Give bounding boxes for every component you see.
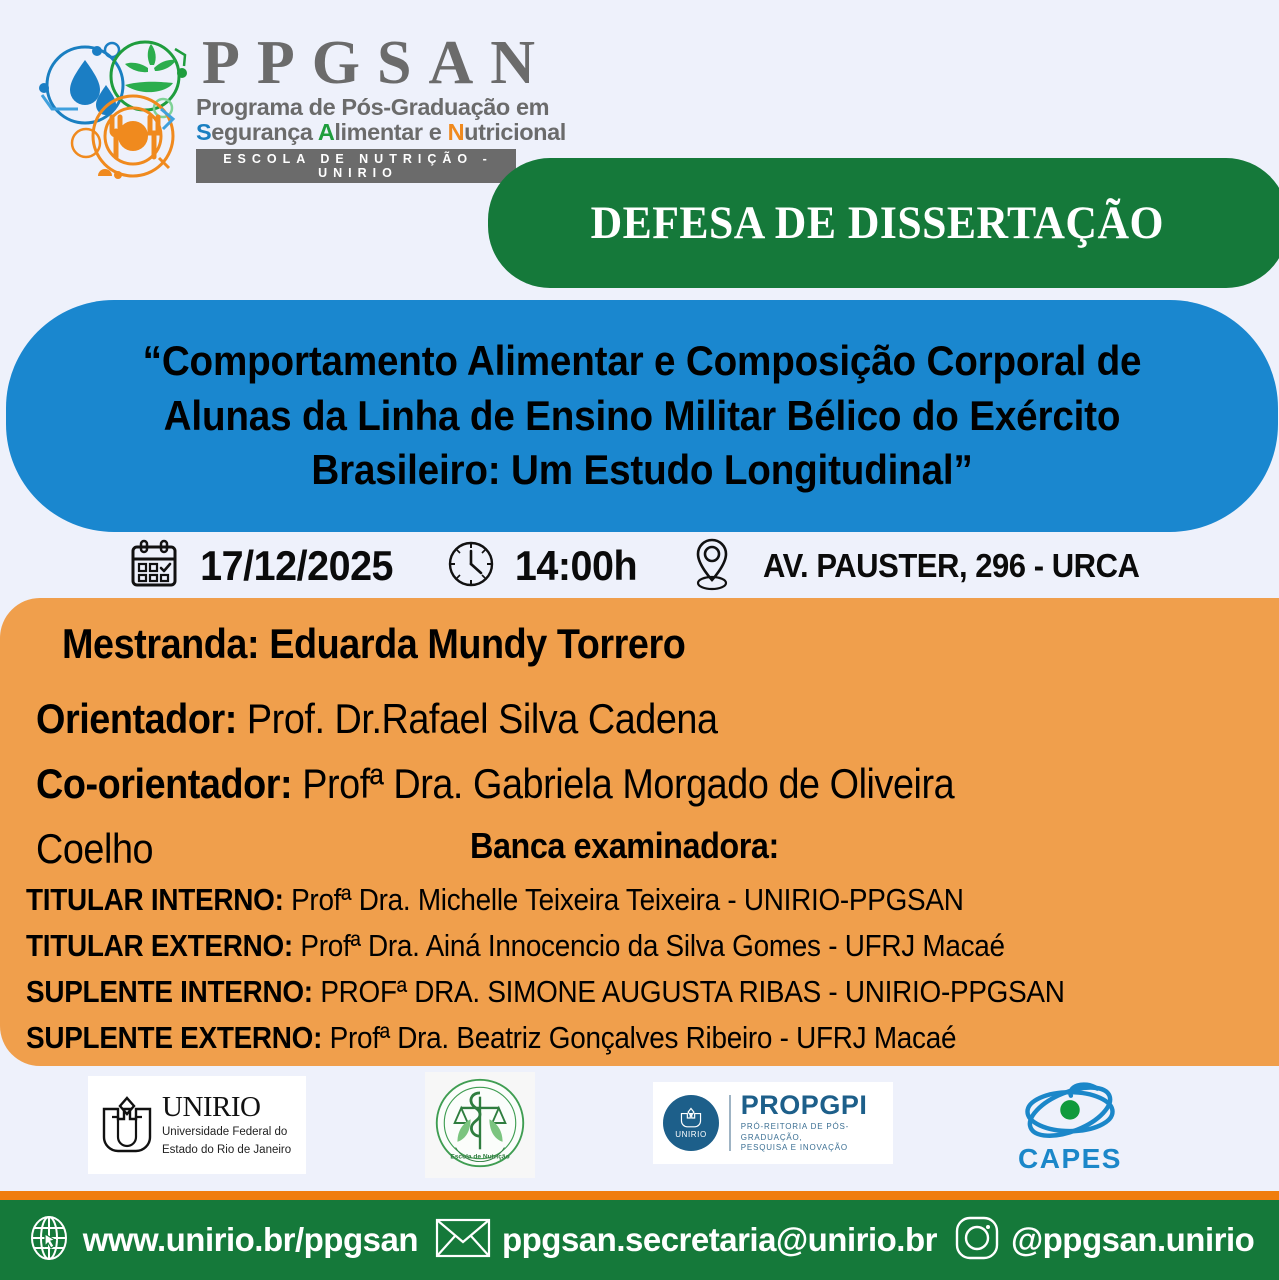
clock-icon (445, 538, 497, 595)
people-panel: Mestranda: Eduarda Mundy Torrero Orienta… (0, 598, 1279, 1066)
calendar-check-icon (128, 538, 180, 595)
footer-instagram-text: @ppgsan.unirio (1011, 1221, 1254, 1259)
banca-role: TITULAR INTERNO: (26, 882, 284, 917)
capes-logo: CAPES (1000, 1074, 1140, 1178)
propgpi-logo: UNIRIO PROPGPI PRÓ-REITORIA DE PÓS-GRADU… (653, 1082, 893, 1164)
instagram-icon (953, 1214, 1001, 1267)
footer-instagram[interactable]: @ppgsan.unirio (953, 1214, 1254, 1267)
banca-role: SUPLENTE EXTERNO: (26, 1020, 322, 1055)
envelope-icon (434, 1215, 492, 1266)
coorientador-name-wrap: Coelho (36, 825, 153, 873)
orientador-name: Prof. Dr.Rafael Silva Cadena (247, 695, 718, 742)
capes-mark-icon (1007, 1078, 1133, 1145)
propgpi-subtitle-line2: PESQUISA E INOVAÇÃO (741, 1143, 848, 1152)
event-type-banner: DEFESA DE DISSERTAÇÃO (488, 158, 1279, 288)
propgpi-name: PROPGPI (741, 1092, 893, 1119)
propgpi-unirio-disc-icon: UNIRIO (663, 1095, 719, 1151)
banca-member-row: TITULAR EXTERNO: Profª Dra. Ainá Innocen… (26, 928, 1005, 964)
footer-website[interactable]: www.unirio.br/ppgsan (25, 1214, 418, 1267)
escola-nutricao-seal-icon: Escola de Nutrição (433, 1076, 527, 1175)
footer-email[interactable]: ppgsan.secretaria@unirio.br (434, 1215, 937, 1266)
banca-heading: Banca examinadora: (470, 825, 779, 867)
unirio-logo: UNIRIO Universidade Federal do Estado do… (88, 1076, 306, 1174)
orientador-row: Orientador: Prof. Dr.Rafael Silva Cadena (36, 695, 718, 743)
propgpi-disc-label: UNIRIO (675, 1130, 707, 1139)
coorientador-name: Profª Dra. Gabriela Morgado de Oliveira (302, 760, 954, 807)
map-pin-icon (687, 536, 737, 597)
event-details-row: 17/12/2025 14:00h (0, 532, 1279, 600)
banca-name: Profª Dra. Beatriz Gonçalves Ribeiro - U… (322, 1020, 956, 1055)
mestranda-name: Eduarda Mundy Torrero (269, 620, 685, 667)
propgpi-subtitle-line1: PRÓ-REITORIA DE PÓS-GRADUAÇÃO, (741, 1122, 849, 1142)
propgpi-wordmark: PROPGPI PRÓ-REITORIA DE PÓS-GRADUAÇÃO, P… (741, 1092, 893, 1154)
ppgsan-acronym: PPGSAN (196, 33, 566, 94)
ppgsan-program-line: Programa de Pós-Graduação em (196, 94, 566, 120)
footer-email-text: ppgsan.secretaria@unirio.br (502, 1221, 937, 1259)
event-type-label: DEFESA DE DISSERTAÇÃO (590, 196, 1163, 250)
propgpi-subtitle: PRÓ-REITORIA DE PÓS-GRADUAÇÃO, PESQUISA … (741, 1122, 893, 1154)
event-time: 14:00h (445, 538, 641, 595)
footer-bar: www.unirio.br/ppgsan ppgsan.secretaria@u… (0, 1200, 1279, 1280)
ppgsan-wordmark: PPGSAN Programa de Pós-Graduação em Segu… (196, 33, 566, 183)
ppgsan-school-line: ESCOLA DE NUTRIÇÃO - UNIRIO (196, 149, 516, 183)
ppgsan-logo-mark (30, 33, 190, 183)
unirio-name: UNIRIO (162, 1091, 261, 1123)
banca-member-row: TITULAR INTERNO: Profª Dra. Michelle Tei… (26, 882, 964, 918)
escola-nutricao-logo: Escola de Nutrição (425, 1072, 535, 1178)
unirio-mark-icon (96, 1094, 158, 1156)
unirio-subtitle: Universidade Federal do Estado do Rio de… (162, 1126, 291, 1156)
event-date: 17/12/2025 (128, 538, 399, 595)
orientador-label: Orientador: (36, 695, 237, 742)
event-place-text: AV. PAUSTER, 296 - URCA (763, 547, 1139, 585)
globe-icon (25, 1214, 73, 1267)
dissertation-title-panel: “Comportamento Alimentar e Composição Co… (6, 300, 1278, 532)
capes-name: CAPES (1018, 1143, 1122, 1175)
banca-name: Profª Dra. Ainá Innocencio da Silva Gome… (293, 928, 1005, 963)
unirio-wordmark: UNIRIO Universidade Federal do Estado do… (162, 1093, 306, 1158)
page-title: “Comportamento Alimentar e Composição Co… (99, 334, 1185, 498)
divider (729, 1095, 731, 1151)
mestranda-row: Mestranda: Eduarda Mundy Torrero (62, 620, 685, 668)
event-time-text: 14:00h (515, 542, 637, 590)
banca-role: TITULAR EXTERNO: (26, 928, 293, 963)
coorientador-label: Co-orientador: (36, 760, 292, 807)
unirio-subtitle-line2: Estado do Rio de Janeiro (162, 1144, 291, 1156)
event-date-text: 17/12/2025 (200, 542, 393, 590)
partner-logos-row: UNIRIO Universidade Federal do Estado do… (0, 1068, 1279, 1188)
banca-name: PROFª DRA. SIMONE AUGUSTA RIBAS - UNIRIO… (313, 974, 1065, 1009)
ppgsan-area-line: Segurança Alimentar e Nutricional (196, 120, 566, 146)
ppgsan-logo: PPGSAN Programa de Pós-Graduação em Segu… (30, 28, 550, 188)
banca-role: SUPLENTE INTERNO: (26, 974, 313, 1009)
unirio-subtitle-line1: Universidade Federal do (162, 1126, 287, 1138)
banca-name: Profª Dra. Michelle Teixeira Teixeira - … (284, 882, 964, 917)
banca-member-row: SUPLENTE INTERNO: PROFª DRA. SIMONE AUGU… (26, 974, 1065, 1010)
coorientador-row: Co-orientador: Profª Dra. Gabriela Morga… (36, 760, 954, 808)
footer-accent-bar (0, 1191, 1279, 1200)
mestranda-label: Mestranda: (62, 620, 259, 667)
event-place: AV. PAUSTER, 296 - URCA (687, 536, 1151, 597)
footer-website-text: www.unirio.br/ppgsan (83, 1221, 418, 1259)
banca-member-row: SUPLENTE EXTERNO: Profª Dra. Beatriz Gon… (26, 1020, 956, 1056)
svg-text:Escola de Nutrição: Escola de Nutrição (450, 1153, 509, 1160)
